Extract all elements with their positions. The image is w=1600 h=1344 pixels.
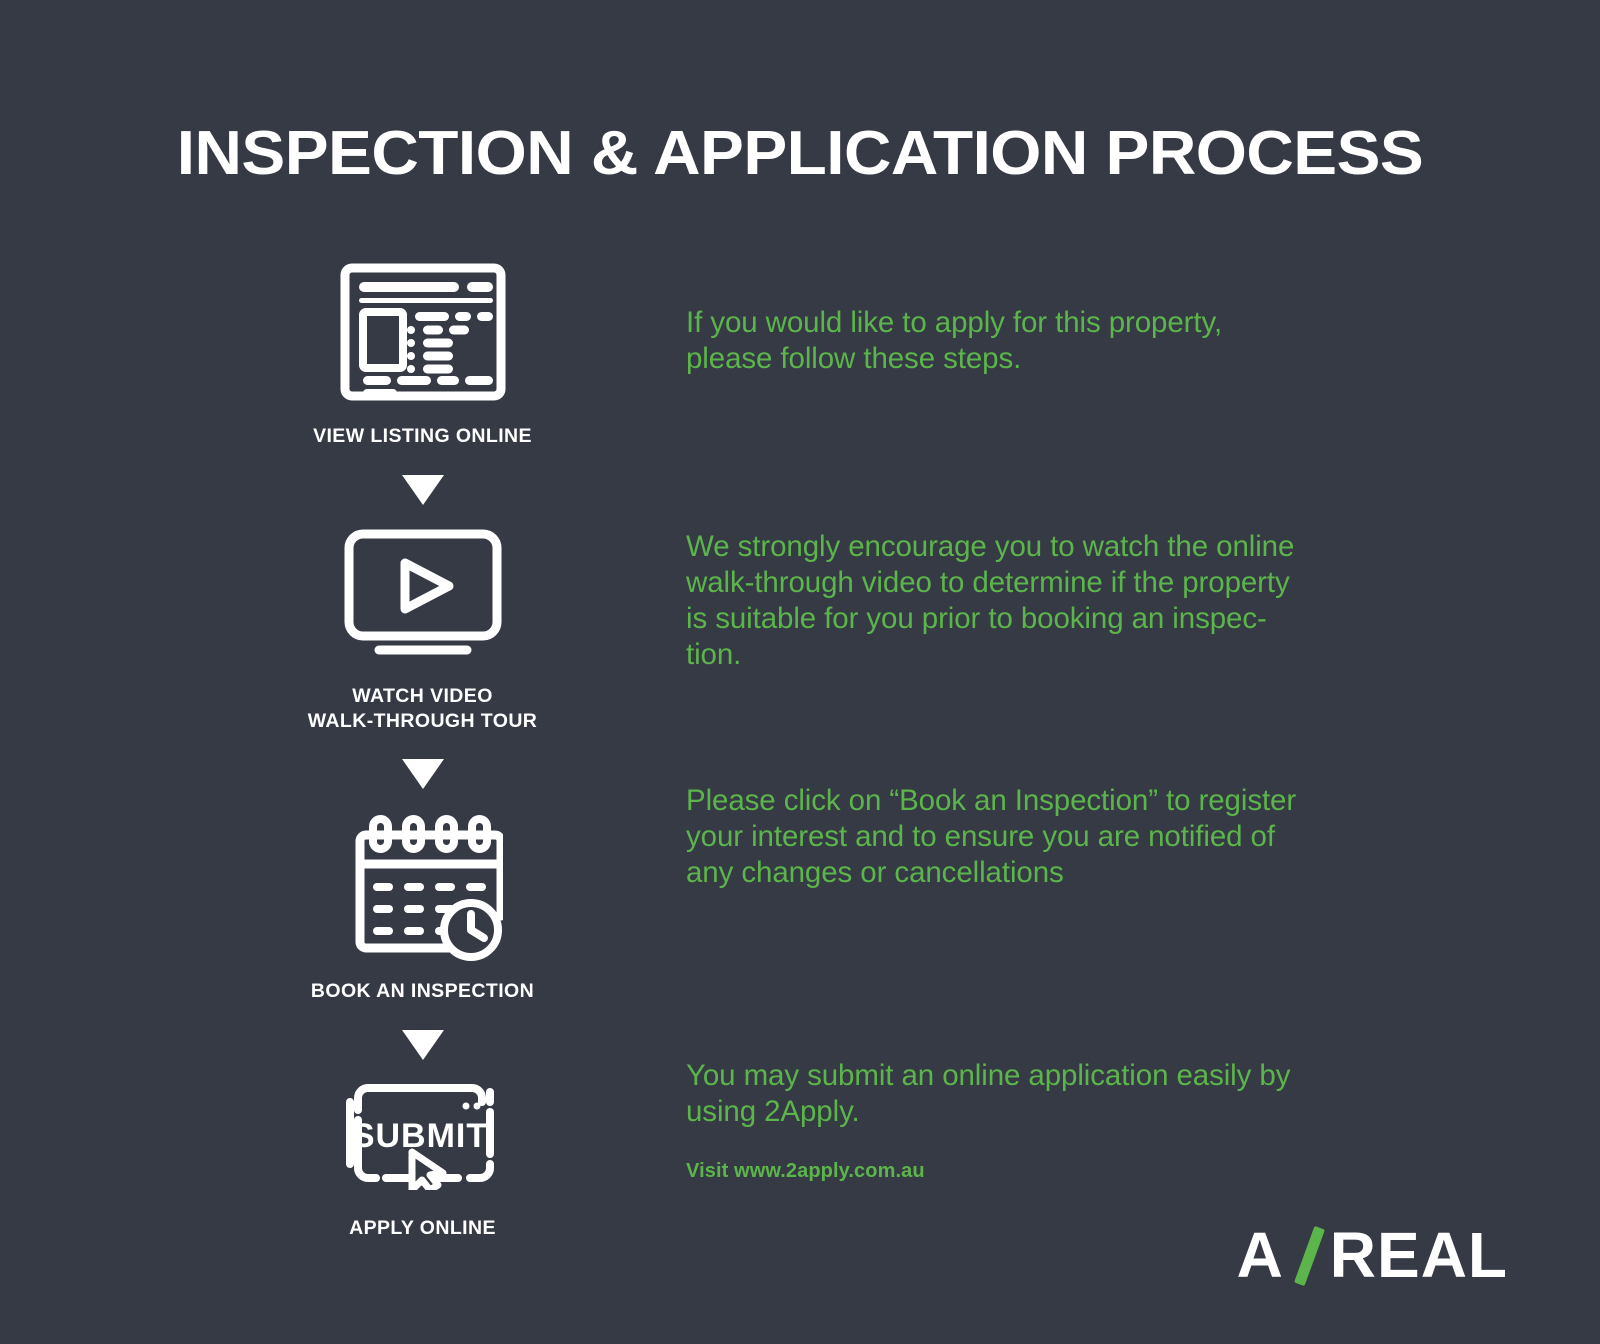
step-view-listing-online: VIEW LISTING ONLINE — [255, 262, 590, 449]
step-apply-online: SUBMIT APPLY ONLINE — [255, 1080, 590, 1241]
step-label-watch-video: WATCH VIDEO WALK-THROUGH TOUR — [308, 684, 538, 734]
step-label-line-1: WATCH VIDEO — [308, 684, 538, 709]
submit-label: SUBMIT — [351, 1117, 487, 1155]
chevron-down-icon — [402, 1030, 444, 1060]
chevron-down-icon — [402, 475, 444, 505]
description-line: any changes or cancellations — [686, 855, 1406, 891]
logo-text-real: REAL — [1330, 1218, 1508, 1292]
step-label-view-listing-online: VIEW LISTING ONLINE — [313, 424, 532, 449]
step-label-line-2: WALK-THROUGH TOUR — [308, 709, 538, 734]
step-watch-video: WATCH VIDEO WALK-THROUGH TOUR — [255, 528, 590, 734]
description-book-inspection: Please click on “Book an Inspection” to … — [686, 783, 1406, 891]
description-line: tion. — [686, 637, 1406, 673]
flow-arrow-2 — [255, 759, 590, 789]
step-label-apply-online: APPLY ONLINE — [349, 1216, 496, 1241]
submit-button-cursor-icon: SUBMIT — [340, 1080, 506, 1190]
flow-arrow-3 — [255, 1030, 590, 1060]
visit-website-link[interactable]: Visit www.2apply.com.au — [686, 1160, 925, 1183]
video-play-monitor-icon — [343, 528, 503, 663]
step-label-book-inspection: BOOK AN INSPECTION — [311, 979, 534, 1004]
description-watch-video: We strongly encourage you to watch the o… — [686, 529, 1406, 673]
description-line: please follow these steps. — [686, 341, 1406, 377]
webpage-listing-icon — [339, 262, 507, 402]
calendar-clock-icon — [343, 811, 503, 961]
brand-logo: A REAL — [1237, 1218, 1508, 1292]
logo-text-a: A — [1237, 1218, 1284, 1292]
description-line: We strongly encourage you to watch the o… — [686, 529, 1406, 565]
description-line: If you would like to apply for this prop… — [686, 305, 1406, 341]
description-apply-online: You may submit an online application eas… — [686, 1058, 1406, 1130]
description-line: is suitable for you prior to booking an … — [686, 601, 1406, 637]
logo-slash-icon — [1292, 1224, 1326, 1286]
description-line: walk-through video to determine if the p… — [686, 565, 1406, 601]
step-book-inspection: BOOK AN INSPECTION — [255, 811, 590, 1004]
chevron-down-icon — [402, 759, 444, 789]
page-title: INSPECTION & APPLICATION PROCESS — [0, 118, 1600, 189]
description-line: your interest and to ensure you are noti… — [686, 819, 1406, 855]
infographic-poster: INSPECTION & APPLICATION PROCESS — [0, 0, 1600, 1344]
flow-arrow-1 — [255, 475, 590, 505]
description-line: Please click on “Book an Inspection” to … — [686, 783, 1406, 819]
description-line: You may submit an online application eas… — [686, 1058, 1406, 1094]
description-line: using 2Apply. — [686, 1094, 1406, 1130]
description-view-listing: If you would like to apply for this prop… — [686, 305, 1406, 377]
process-steps-column: VIEW LISTING ONLINE WATCH VIDEO WALK-THR… — [255, 262, 590, 1241]
